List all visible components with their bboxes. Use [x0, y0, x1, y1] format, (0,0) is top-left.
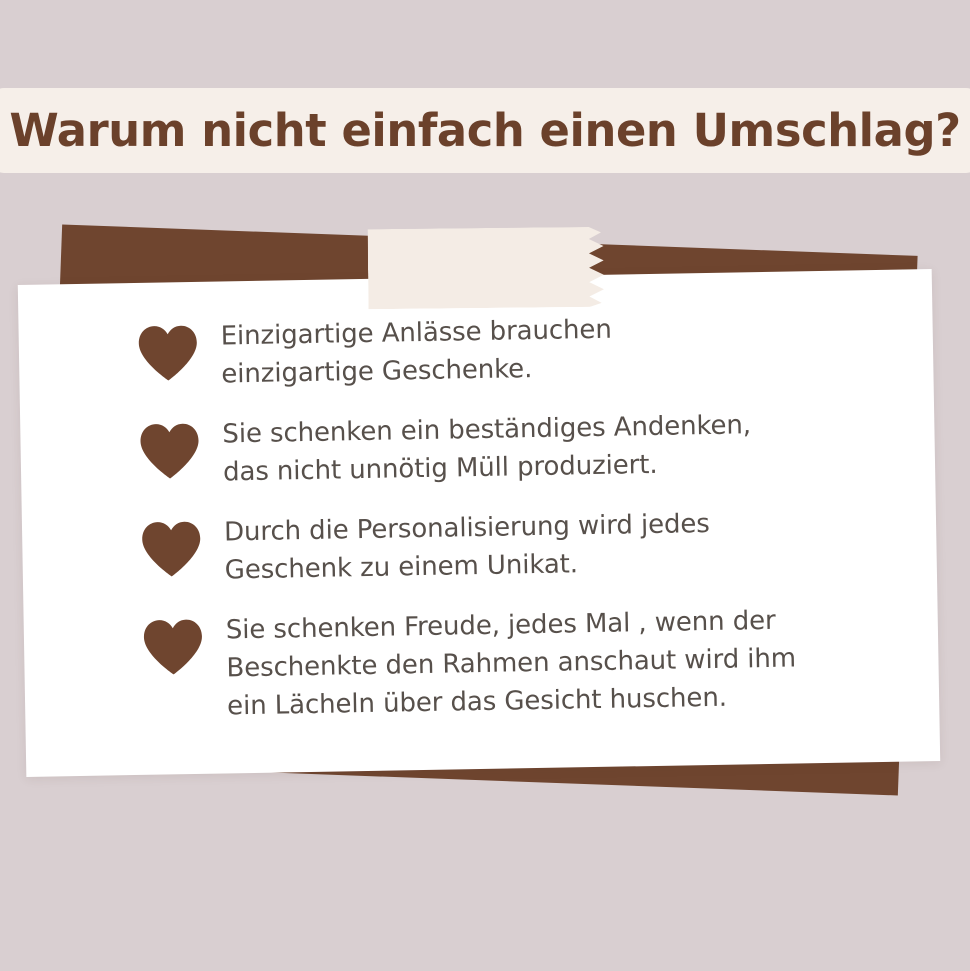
washi-tape — [368, 227, 612, 310]
list-item: Einzigartige Anlässe brauchen einzigarti… — [136, 306, 893, 395]
list-item-text: Sie schenken ein beständiges Andenken, d… — [222, 406, 752, 491]
heart-icon — [138, 422, 201, 481]
list-item: Durch die Personalisierung wird jedes Ge… — [140, 502, 897, 591]
benefits-list: Einzigartige Anlässe brauchen einzigarti… — [18, 269, 940, 777]
list-item: Sie schenken ein beständiges Andenken, d… — [138, 404, 895, 493]
heart-icon — [142, 618, 205, 677]
page-title: Warum nicht einfach einen Umschlag? — [9, 108, 960, 153]
heart-icon — [140, 520, 203, 579]
title-band: Warum nicht einfach einen Umschlag? — [0, 88, 970, 173]
list-item-text: Einzigartige Anlässe brauchen einzigarti… — [220, 311, 612, 394]
list-item: Sie schenken Freude, jedes Mal , wenn de… — [142, 600, 900, 727]
poster-canvas: Warum nicht einfach einen Umschlag? Einz… — [0, 0, 970, 971]
list-item-text: Durch die Personalisierung wird jedes Ge… — [224, 505, 711, 589]
list-item-text: Sie schenken Freude, jedes Mal , wenn de… — [226, 601, 797, 725]
heart-icon — [136, 324, 199, 383]
white-note-card: Einzigartige Anlässe brauchen einzigarti… — [18, 269, 940, 777]
